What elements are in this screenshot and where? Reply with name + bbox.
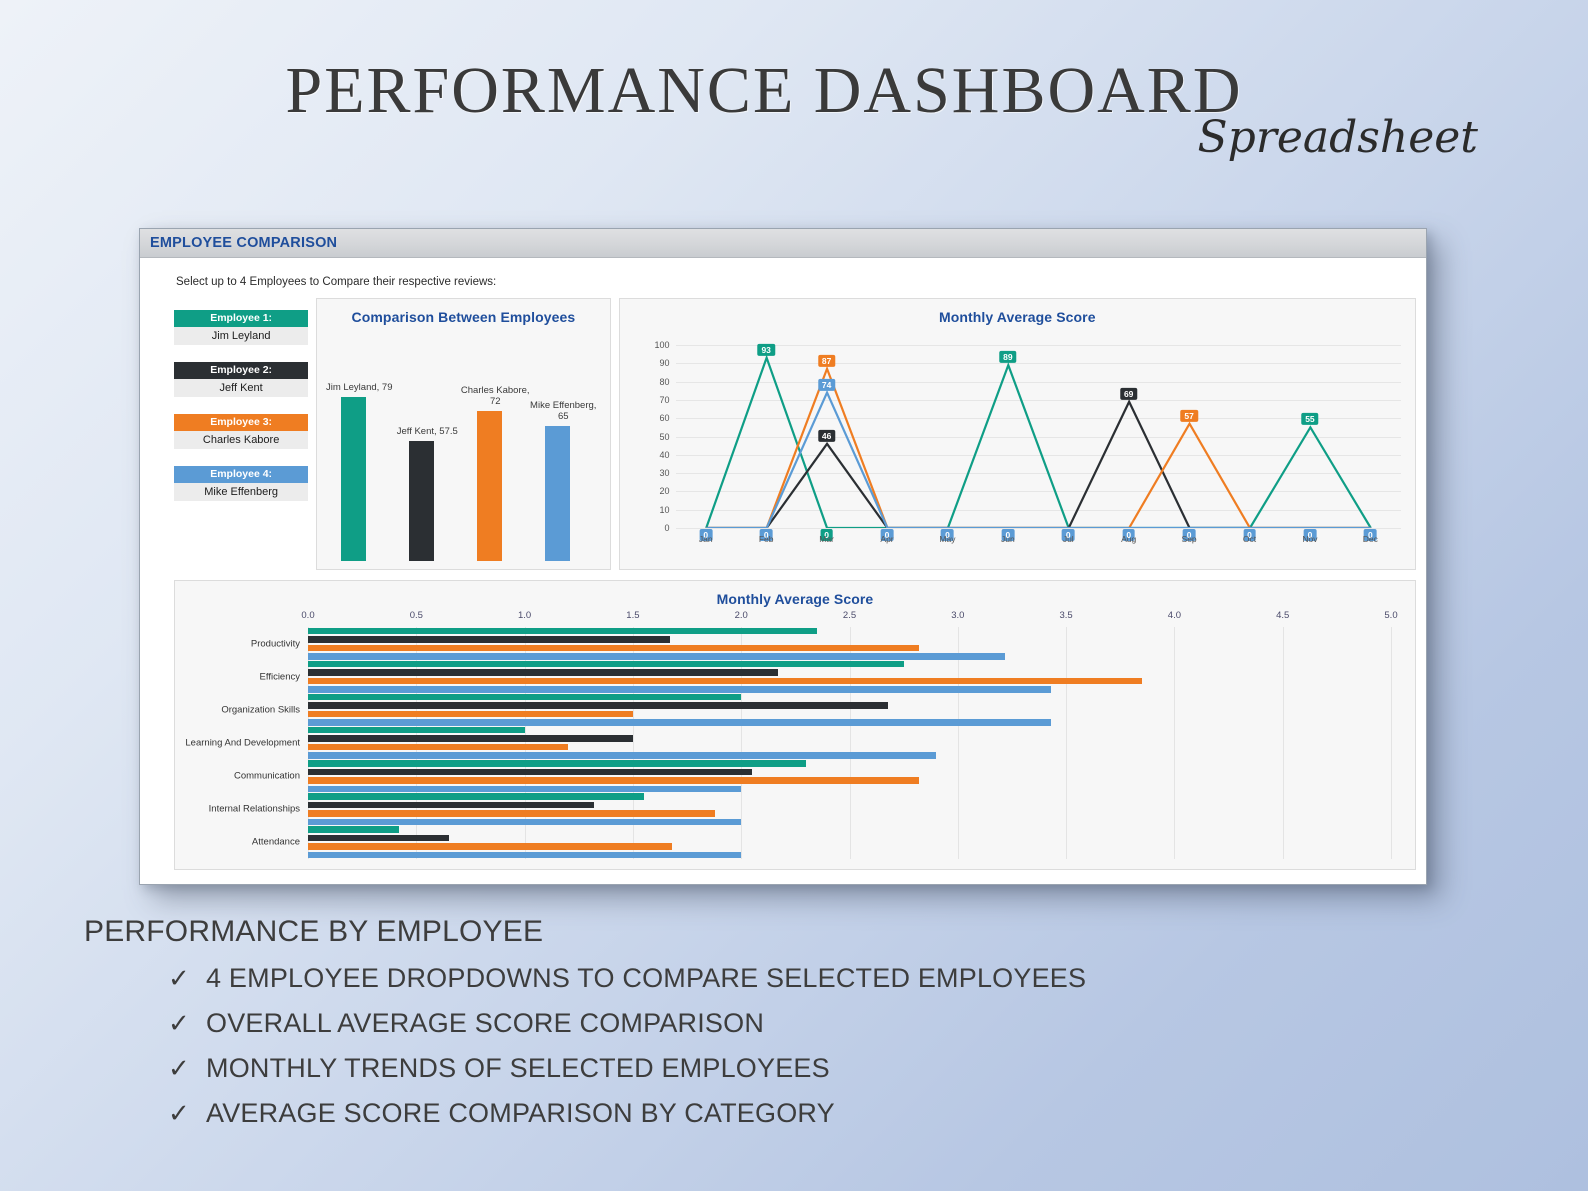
comparison-bar-group: Jeff Kent, 57.5 — [399, 335, 467, 561]
monthly-average-score-category-chart: Monthly Average Score 0.00.51.01.52.02.5… — [174, 580, 1416, 870]
feature-item: ✓AVERAGE SCORE COMPARISON BY CATEGORY — [168, 1098, 1384, 1129]
category-bar — [308, 711, 633, 718]
comparison-bar — [409, 441, 434, 561]
line-series — [706, 358, 1371, 528]
y-axis-tick: 90 — [660, 358, 670, 368]
comparison-bar — [341, 397, 366, 561]
category-bar — [308, 744, 568, 751]
category-bar — [308, 628, 817, 635]
category-bar-group: Organization Skills — [308, 693, 1391, 726]
x-axis-tick: 4.0 — [1168, 610, 1181, 621]
comparison-bar-group: Jim Leyland, 79 — [331, 335, 399, 561]
x-axis-tick: Nov — [1302, 534, 1317, 544]
comparison-bar — [545, 426, 570, 561]
line-data-label: 55 — [1301, 413, 1318, 425]
line-series-svg — [676, 345, 1401, 528]
line-data-label: 87 — [818, 355, 835, 367]
x-axis-tick: Jul — [1063, 534, 1074, 544]
panel-titlebar: EMPLOYEE COMPARISON — [140, 229, 1426, 258]
category-plot-area: 0.00.51.01.52.02.53.03.54.04.55.0Product… — [308, 627, 1391, 859]
x-axis-tick: 2.5 — [843, 610, 856, 621]
x-axis-tick: Oct — [1243, 534, 1256, 544]
category-bar — [308, 645, 919, 652]
x-axis-tick: 0.5 — [410, 610, 423, 621]
feature-item: ✓OVERALL AVERAGE SCORE COMPARISON — [168, 1008, 1384, 1039]
employee-dropdown-value[interactable]: Charles Kabore — [174, 431, 308, 449]
x-axis-tick: Jan — [699, 534, 713, 544]
category-bar — [308, 777, 919, 784]
employee-selector-3[interactable]: Employee 3:Charles Kabore — [174, 414, 308, 449]
category-bar — [308, 843, 672, 850]
category-bar — [308, 786, 741, 793]
category-bar — [308, 702, 888, 709]
comparison-chart-title: Comparison Between Employees — [317, 299, 609, 325]
gridline — [676, 528, 1401, 529]
category-bar — [308, 793, 644, 800]
check-icon: ✓ — [168, 1098, 190, 1129]
employee-selector-tag: Employee 2: — [174, 362, 308, 379]
category-bar-group: Communication — [308, 760, 1391, 793]
category-bar — [308, 802, 594, 809]
line-chart-title: Monthly Average Score — [620, 299, 1415, 325]
instruction-text: Select up to 4 Employees to Compare thei… — [140, 258, 1426, 288]
category-label: Organization Skills — [221, 704, 300, 715]
category-label: Productivity — [251, 638, 300, 649]
line-series — [706, 402, 1371, 528]
line-plot-area: 0102030405060708090100000000000000093877… — [676, 345, 1401, 528]
employee-dropdown-value[interactable]: Jeff Kent — [174, 379, 308, 397]
gridline — [1391, 627, 1392, 859]
feature-item-label: AVERAGE SCORE COMPARISON BY CATEGORY — [206, 1098, 835, 1129]
x-axis-tick: 2.0 — [735, 610, 748, 621]
employee-selector-4[interactable]: Employee 4:Mike Effenberg — [174, 466, 308, 501]
spreadsheet-window: EMPLOYEE COMPARISON Select up to 4 Emplo… — [139, 228, 1427, 885]
category-bar-group: Internal Relationships — [308, 793, 1391, 826]
category-bar-group: Learning And Development — [308, 726, 1391, 759]
category-bar — [308, 810, 715, 817]
category-bar — [308, 719, 1051, 726]
category-bar — [308, 653, 1005, 660]
category-label: Efficiency — [260, 671, 300, 682]
x-axis-tick: 4.5 — [1276, 610, 1289, 621]
feature-item: ✓MONTHLY TRENDS OF SELECTED EMPLOYEES — [168, 1053, 1384, 1084]
y-axis-tick: 30 — [660, 468, 670, 478]
category-chart-title: Monthly Average Score — [175, 581, 1415, 607]
comparison-bar-group: Mike Effenberg, 65 — [535, 335, 603, 561]
comparison-bars-area: Jim Leyland, 79Jeff Kent, 57.5Charles Ka… — [331, 345, 599, 561]
x-axis-tick: May — [939, 534, 955, 544]
y-axis-tick: 10 — [660, 505, 670, 515]
y-axis-tick: 50 — [660, 432, 670, 442]
category-bar — [308, 752, 936, 759]
category-bar — [308, 678, 1142, 685]
x-axis-tick: Apr — [880, 534, 893, 544]
comparison-bar-label: Jeff Kent, 57.5 — [389, 426, 465, 437]
category-bar — [308, 760, 806, 767]
x-axis-tick: 1.5 — [626, 610, 639, 621]
comparison-bar-label: Jim Leyland, 79 — [321, 382, 397, 393]
x-axis-tick: 3.0 — [951, 610, 964, 621]
comparison-bar-group: Charles Kabore, 72 — [467, 335, 535, 561]
comparison-bar-label: Charles Kabore, 72 — [457, 385, 533, 407]
line-data-label: 46 — [818, 430, 835, 442]
x-axis-tick: 5.0 — [1384, 610, 1397, 621]
top-row: Employee 1:Jim LeylandEmployee 2:Jeff Ke… — [140, 288, 1426, 570]
x-axis-tick: Feb — [759, 534, 774, 544]
panel-title: EMPLOYEE COMPARISON — [140, 235, 337, 251]
line-series — [706, 393, 1371, 528]
category-bar-group: Attendance — [308, 826, 1391, 859]
dashboard-header: PERFORMANCE DASHBOARD Spreadsheet — [0, 58, 1588, 198]
category-bar — [308, 735, 633, 742]
category-bar — [308, 661, 904, 668]
feature-item-label: 4 EMPLOYEE DROPDOWNS TO COMPARE SELECTED… — [206, 963, 1086, 994]
x-axis-tick: 3.5 — [1059, 610, 1072, 621]
category-bar — [308, 819, 741, 826]
feature-item-label: MONTHLY TRENDS OF SELECTED EMPLOYEES — [206, 1053, 830, 1084]
employee-selector-1[interactable]: Employee 1:Jim Leyland — [174, 310, 308, 345]
feature-item-label: OVERALL AVERAGE SCORE COMPARISON — [206, 1008, 764, 1039]
category-bar — [308, 835, 449, 842]
employee-selector-tag: Employee 3: — [174, 414, 308, 431]
x-axis-tick: 0.0 — [301, 610, 314, 621]
check-icon: ✓ — [168, 963, 190, 994]
category-bar — [308, 669, 778, 676]
check-icon: ✓ — [168, 1053, 190, 1084]
line-data-label: 74 — [818, 378, 835, 390]
x-axis-tick: Aug — [1121, 534, 1136, 544]
category-label: Attendance — [252, 837, 300, 848]
comparison-between-employees-chart: Comparison Between Employees Jim Leyland… — [316, 298, 610, 570]
feature-list: PERFORMANCE BY EMPLOYEE ✓4 EMPLOYEE DROP… — [84, 915, 1384, 1129]
line-data-label: 69 — [1120, 388, 1137, 400]
category-label: Internal Relationships — [209, 804, 300, 815]
category-label: Learning And Development — [185, 737, 300, 748]
employee-selector-tag: Employee 1: — [174, 310, 308, 327]
feature-item: ✓4 EMPLOYEE DROPDOWNS TO COMPARE SELECTE… — [168, 963, 1384, 994]
x-axis-tick: Mar — [819, 534, 834, 544]
category-label: Communication — [234, 771, 300, 782]
y-axis-tick: 70 — [660, 395, 670, 405]
x-axis-tick: Jun — [1001, 534, 1015, 544]
employee-selector-2[interactable]: Employee 2:Jeff Kent — [174, 362, 308, 397]
x-axis-tick: Sep — [1182, 534, 1197, 544]
comparison-bar-label: Mike Effenberg, 65 — [525, 400, 601, 422]
category-bar — [308, 826, 399, 833]
category-bar — [308, 852, 741, 859]
monthly-average-score-line-chart: Monthly Average Score 010203040506070809… — [619, 298, 1416, 570]
employee-dropdown-value[interactable]: Mike Effenberg — [174, 483, 308, 501]
feature-items: ✓4 EMPLOYEE DROPDOWNS TO COMPARE SELECTE… — [84, 963, 1384, 1129]
category-bar — [308, 769, 752, 776]
y-axis-tick: 40 — [660, 450, 670, 460]
line-data-label: 89 — [999, 351, 1016, 363]
y-axis-tick: 100 — [655, 340, 670, 350]
feature-heading: PERFORMANCE BY EMPLOYEE — [84, 915, 1384, 949]
employee-dropdown-value[interactable]: Jim Leyland — [174, 327, 308, 345]
line-data-label: 57 — [1180, 410, 1197, 422]
comparison-bar — [477, 411, 502, 561]
y-axis-tick: 0 — [665, 523, 670, 533]
category-bar-group: Productivity — [308, 627, 1391, 660]
x-axis-tick: Dec — [1363, 534, 1378, 544]
check-icon: ✓ — [168, 1008, 190, 1039]
category-bar — [308, 686, 1051, 693]
employee-selector-tag: Employee 4: — [174, 466, 308, 483]
y-axis-tick: 20 — [660, 486, 670, 496]
category-bar — [308, 727, 525, 734]
y-axis-tick: 80 — [660, 377, 670, 387]
line-data-label: 93 — [757, 344, 774, 356]
y-axis-tick: 60 — [660, 413, 670, 423]
category-bar — [308, 636, 670, 643]
category-bar — [308, 694, 741, 701]
employee-selector-list: Employee 1:Jim LeylandEmployee 2:Jeff Ke… — [174, 298, 308, 570]
x-axis-tick: 1.0 — [518, 610, 531, 621]
category-bar-group: Efficiency — [308, 660, 1391, 693]
